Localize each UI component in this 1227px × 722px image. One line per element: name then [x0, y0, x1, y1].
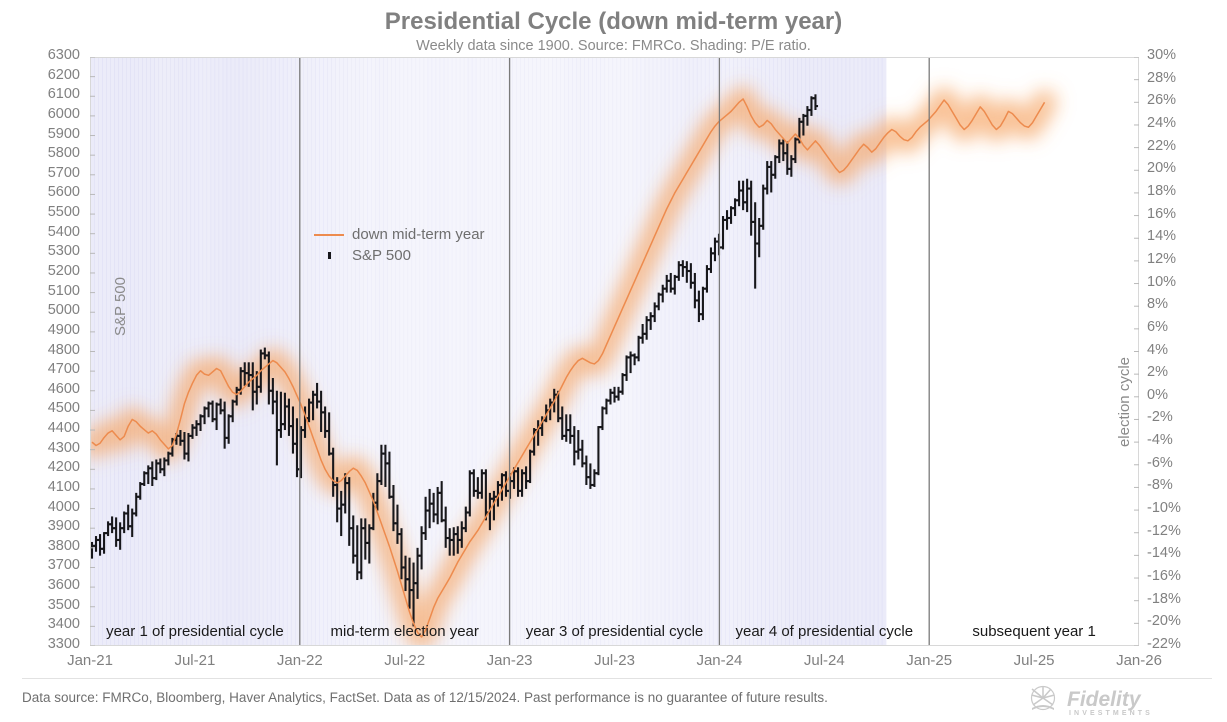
y-axis-left-tick: 5700 [48, 165, 80, 181]
legend-item-line: down mid-term year [310, 224, 485, 245]
x-axis-tick: Jan-24 [669, 652, 769, 669]
svg-text:INVESTMENTS: INVESTMENTS [1069, 710, 1153, 717]
y-axis-left-tick: 3800 [48, 538, 80, 554]
x-axis-tick: Jul-23 [565, 652, 665, 669]
y-axis-right-tick: -8% [1147, 477, 1173, 493]
y-axis-right-tick: 26% [1147, 92, 1176, 108]
y-axis-right-tick: 28% [1147, 70, 1176, 86]
y-axis-right-tick: 4% [1147, 342, 1168, 358]
cycle-band-label: year 4 of presidential cycle [719, 623, 929, 640]
y-axis-left-tick: 4400 [48, 420, 80, 436]
legend-label-sp500: S&P 500 [348, 247, 411, 264]
x-axis-tick: Jan-25 [879, 652, 979, 669]
y-axis-right-tick: -14% [1147, 545, 1181, 561]
y-axis-left-tick: 3700 [48, 557, 80, 573]
chart-page: Presidential Cycle (down mid-term year) … [0, 0, 1227, 722]
y-axis-right-tick: 30% [1147, 47, 1176, 63]
fidelity-logo: Fidelity INVESTMENTS [1023, 684, 1213, 718]
y-axis-left-tick: 6000 [48, 106, 80, 122]
footer-divider [22, 678, 1212, 679]
legend-label-midterm: down mid-term year [348, 226, 485, 243]
y-axis-right-tick: 16% [1147, 206, 1176, 222]
y-axis-right-tick: 24% [1147, 115, 1176, 131]
y-axis-right-tick: 0% [1147, 387, 1168, 403]
y-axis-left-tick: 5900 [48, 126, 80, 142]
y-axis-right-tick: -18% [1147, 591, 1181, 607]
y-axis-right-tick: 14% [1147, 228, 1176, 244]
left-axis-title: S&P 500 [112, 277, 129, 336]
footer-data-source: Data source: FMRCo, Bloomberg, Haver Ana… [22, 690, 828, 705]
y-axis-left-tick: 5300 [48, 243, 80, 259]
y-axis-left-tick: 5500 [48, 204, 80, 220]
y-axis-left-tick: 3600 [48, 577, 80, 593]
page-title: Presidential Cycle (down mid-term year) [0, 8, 1227, 36]
legend-item-bar: S&P 500 [310, 245, 485, 266]
y-axis-left-tick: 4800 [48, 342, 80, 358]
x-axis-tick: Jul-24 [774, 652, 874, 669]
y-axis-right-tick: 2% [1147, 364, 1168, 380]
y-axis-left-tick: 3500 [48, 597, 80, 613]
chart-canvas [90, 57, 1139, 646]
cycle-band-label: mid-term election year [300, 623, 510, 640]
y-axis-right-tick: -6% [1147, 455, 1173, 471]
y-axis-left-tick: 5400 [48, 224, 80, 240]
cycle-band-label: year 3 of presidential cycle [510, 623, 720, 640]
x-axis-tick: Jul-25 [984, 652, 1084, 669]
x-axis-tick: Jul-21 [145, 652, 245, 669]
y-axis-left-tick: 4500 [48, 400, 80, 416]
y-axis-right-tick: 22% [1147, 138, 1176, 154]
y-axis-right-tick: 8% [1147, 296, 1168, 312]
y-axis-left-tick: 6300 [48, 47, 80, 63]
cycle-band-label: subsequent year 1 [929, 623, 1139, 640]
y-axis-left-tick: 3300 [48, 636, 80, 652]
x-axis-tick: Jan-23 [460, 652, 560, 669]
y-axis-right-tick: -16% [1147, 568, 1181, 584]
y-axis-right-tick: 6% [1147, 319, 1168, 335]
svg-text:Fidelity: Fidelity [1067, 688, 1142, 711]
y-axis-right-tick: -4% [1147, 432, 1173, 448]
y-axis-left-tick: 4300 [48, 440, 80, 456]
legend-line-swatch [310, 234, 348, 236]
x-axis-tick: Jul-22 [355, 652, 455, 669]
y-axis-right-tick: 10% [1147, 274, 1176, 290]
right-axis-title: election cycle [1116, 357, 1133, 447]
y-axis-left-tick: 4600 [48, 381, 80, 397]
y-axis-left-tick: 5600 [48, 184, 80, 200]
x-axis-tick: Jan-21 [40, 652, 140, 669]
y-axis-right-tick: -20% [1147, 613, 1181, 629]
y-axis-left-tick: 4000 [48, 499, 80, 515]
y-axis-left-tick: 5800 [48, 145, 80, 161]
y-axis-left-tick: 6200 [48, 67, 80, 83]
y-axis-left-tick: 6100 [48, 86, 80, 102]
y-axis-left-tick: 4900 [48, 322, 80, 338]
y-axis-left-tick: 3400 [48, 616, 80, 632]
pe-ratio-shading [90, 57, 886, 646]
page-subtitle: Weekly data since 1900. Source: FMRCo. S… [0, 38, 1227, 54]
cycle-band-label: year 1 of presidential cycle [90, 623, 300, 640]
y-axis-right-tick: -12% [1147, 523, 1181, 539]
chart-legend: down mid-term year S&P 500 [310, 224, 485, 266]
y-axis-left-tick: 5000 [48, 302, 80, 318]
x-axis-tick: Jan-22 [250, 652, 350, 669]
y-axis-left-tick: 4100 [48, 479, 80, 495]
legend-bar-swatch [310, 252, 348, 259]
y-axis-right-tick: -10% [1147, 500, 1181, 516]
y-axis-right-tick: -22% [1147, 636, 1181, 652]
chart-plot-area: S&P 500 election cycle year 1 of preside… [90, 57, 1139, 646]
y-axis-right-tick: -2% [1147, 409, 1173, 425]
y-axis-left-tick: 4200 [48, 459, 80, 475]
y-axis-left-tick: 5100 [48, 283, 80, 299]
y-axis-left-tick: 4700 [48, 361, 80, 377]
y-axis-right-tick: 20% [1147, 160, 1176, 176]
y-axis-left-tick: 3900 [48, 518, 80, 534]
y-axis-left-tick: 5200 [48, 263, 80, 279]
y-axis-right-tick: 12% [1147, 251, 1176, 267]
y-axis-right-tick: 18% [1147, 183, 1176, 199]
x-axis-tick: Jan-26 [1089, 652, 1189, 669]
